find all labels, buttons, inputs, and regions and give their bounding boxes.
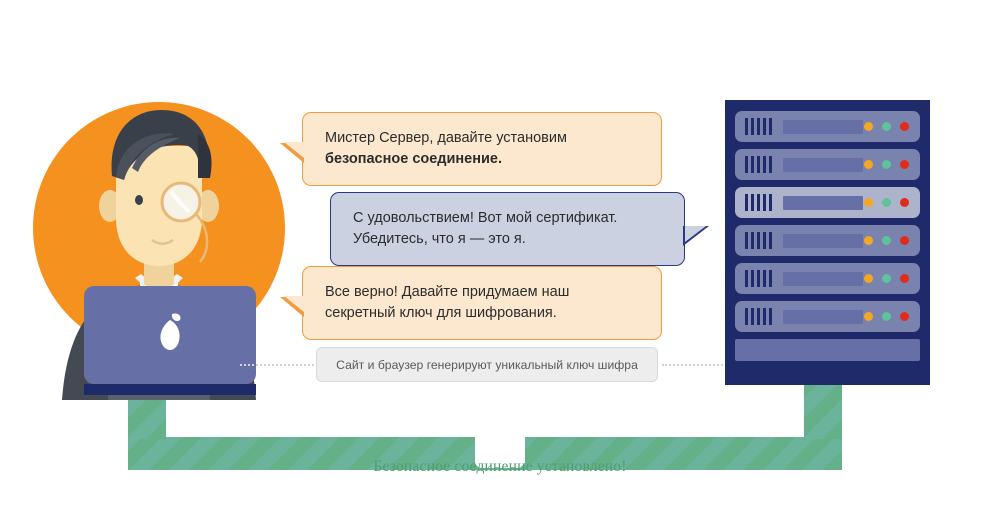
bubble-3-line-1: Все верно! Давайте придумаем наш xyxy=(325,282,641,303)
rack-base-panel xyxy=(735,339,920,361)
eye-left xyxy=(135,195,143,205)
drive-slot xyxy=(783,272,863,286)
drive-slot xyxy=(783,234,863,248)
drive-slot xyxy=(783,120,863,134)
status-leds xyxy=(864,122,909,131)
infographic-canvas: Мистер Сервер, давайте установим безопас… xyxy=(0,0,1000,523)
vent-grille-icon xyxy=(745,156,772,173)
server-unit-1 xyxy=(735,111,920,142)
laptop xyxy=(58,286,282,400)
vent-grille-icon xyxy=(745,194,772,211)
status-leds xyxy=(864,274,909,283)
speech-bubble-2: С удовольствием! Вот мой сертификат. Убе… xyxy=(330,192,685,266)
server-unit-4 xyxy=(735,225,920,256)
bubble-tail-right xyxy=(683,226,709,246)
bubble-3-line-2: секретный ключ для шифрования. xyxy=(325,303,641,324)
bubble-tail-left xyxy=(280,297,304,317)
drive-slot xyxy=(783,196,863,210)
dotted-line-left xyxy=(240,364,318,366)
bubble-2-line-2: Убедитесь, что я — это я. xyxy=(353,229,664,250)
vent-grille-icon xyxy=(745,270,772,287)
vent-grille-icon xyxy=(745,308,772,325)
server-unit-2 xyxy=(735,149,920,180)
drive-slot xyxy=(783,158,863,172)
server-unit-3 xyxy=(735,187,920,218)
speech-bubble-1: Мистер Сервер, давайте установим безопас… xyxy=(302,112,662,186)
dotted-line-right xyxy=(662,364,730,366)
key-generation-note: Сайт и браузер генерируют уникальный клю… xyxy=(316,347,658,382)
laptop-base xyxy=(84,384,256,395)
vent-grille-icon xyxy=(745,232,772,249)
status-leds xyxy=(864,236,909,245)
speech-bubble-3: Все верно! Давайте придумаем наш секретн… xyxy=(302,266,662,340)
status-leds xyxy=(864,312,909,321)
drive-slot xyxy=(783,310,863,324)
server-rack xyxy=(725,100,930,385)
vent-grille-icon xyxy=(745,118,772,135)
status-leds xyxy=(864,160,909,169)
status-leds xyxy=(864,198,909,207)
server-unit-5 xyxy=(735,263,920,294)
server-unit-6 xyxy=(735,301,920,332)
bubble-1-line-1: Мистер Сервер, давайте установим xyxy=(325,128,641,149)
page-caption: Безопасное соединение установлено! xyxy=(0,458,1000,476)
bubble-1-line-2: безопасное соединение. xyxy=(325,151,502,167)
bubble-2-line-1: С удовольствием! Вот мой сертификат. xyxy=(353,208,664,229)
secure-band-left xyxy=(128,399,166,439)
bubble-tail-left xyxy=(280,143,304,163)
secure-band-right xyxy=(804,377,842,439)
